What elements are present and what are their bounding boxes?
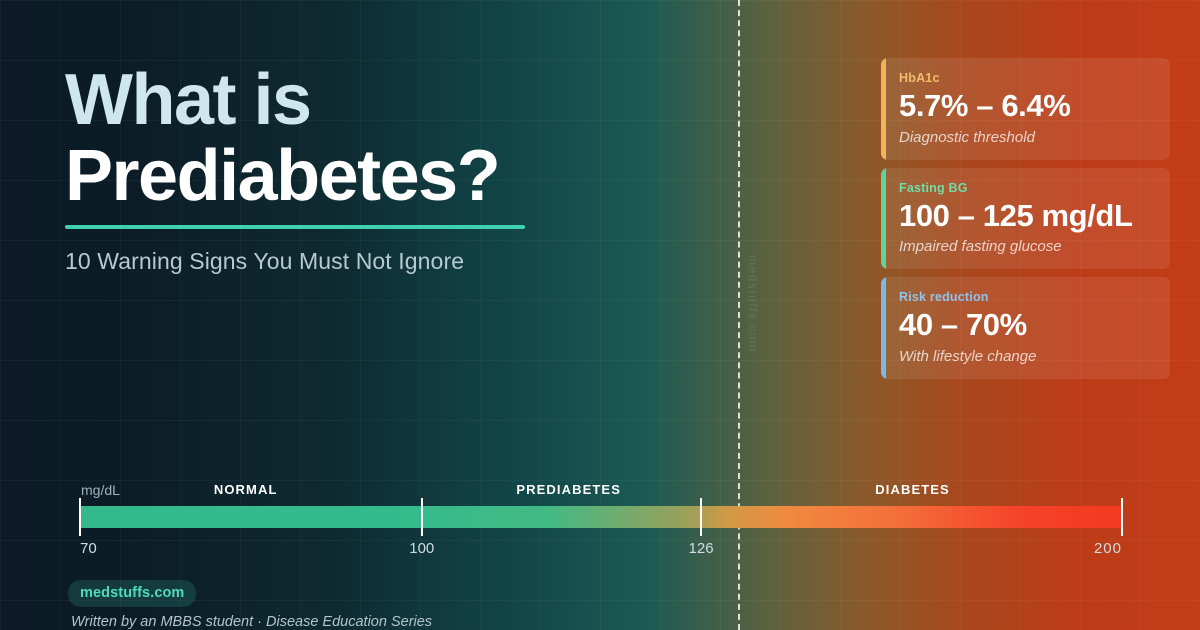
infographic-canvas: medstuffs.com What is Prediabetes? 10 Wa… (0, 0, 1200, 630)
scale-tick (700, 498, 702, 536)
stat-card-label: Fasting BG (899, 181, 1154, 195)
footer-byline: Written by an MBBS student · Disease Edu… (71, 614, 432, 630)
scale-tick-label: 70 (80, 540, 97, 557)
footer-block: medstuffs.com Written by an MBBS student… (68, 580, 432, 630)
scale-zone-label: NORMAL (214, 482, 278, 497)
watermark-text: medstuffs.com (746, 255, 760, 352)
page-title-line-2: Prediabetes? (65, 138, 665, 214)
stat-card-list: HbA1c5.7% – 6.4%Diagnostic thresholdFast… (881, 58, 1170, 379)
scale-zone-label: PREDIABETES (516, 482, 621, 497)
page-subtitle: 10 Warning Signs You Must Not Ignore (65, 248, 665, 275)
stat-card-note: With lifestyle change (899, 348, 1154, 365)
stat-card-accent-bar (881, 58, 886, 160)
stat-card: HbA1c5.7% – 6.4%Diagnostic threshold (881, 58, 1170, 160)
stat-card-label: Risk reduction (899, 290, 1154, 304)
stat-card-accent-bar (881, 168, 886, 270)
scale-gradient-bar (80, 506, 1122, 528)
stat-card-value: 5.7% – 6.4% (899, 89, 1154, 124)
scale-tick (421, 498, 423, 536)
stat-card-value: 40 – 70% (899, 308, 1154, 343)
site-badge[interactable]: medstuffs.com (68, 580, 196, 607)
scale-tick (79, 498, 81, 536)
stat-card: Fasting BG100 – 125 mg/dLImpaired fastin… (881, 168, 1170, 270)
page-title-line-1: What is (65, 62, 665, 138)
scale-tick-label: 126 (689, 540, 714, 557)
stat-card-note: Impaired fasting glucose (899, 238, 1154, 255)
scale-tick-label: 200 (1094, 540, 1122, 557)
scale-unit-label: mg/dL (81, 482, 120, 498)
stat-card-label: HbA1c (899, 71, 1154, 85)
stat-card-value: 100 – 125 mg/dL (899, 199, 1154, 234)
scale-tick-label: 100 (409, 540, 434, 557)
stat-card-accent-bar (881, 277, 886, 379)
stat-card-note: Diagnostic threshold (899, 129, 1154, 146)
headline-block: What is Prediabetes? 10 Warning Signs Yo… (65, 62, 665, 275)
scale-zone-label: DIABETES (875, 482, 950, 497)
title-underline-rule (65, 225, 525, 229)
scale-tick (1121, 498, 1123, 536)
stat-card: Risk reduction40 – 70%With lifestyle cha… (881, 277, 1170, 379)
vertical-dashed-divider (738, 0, 740, 630)
